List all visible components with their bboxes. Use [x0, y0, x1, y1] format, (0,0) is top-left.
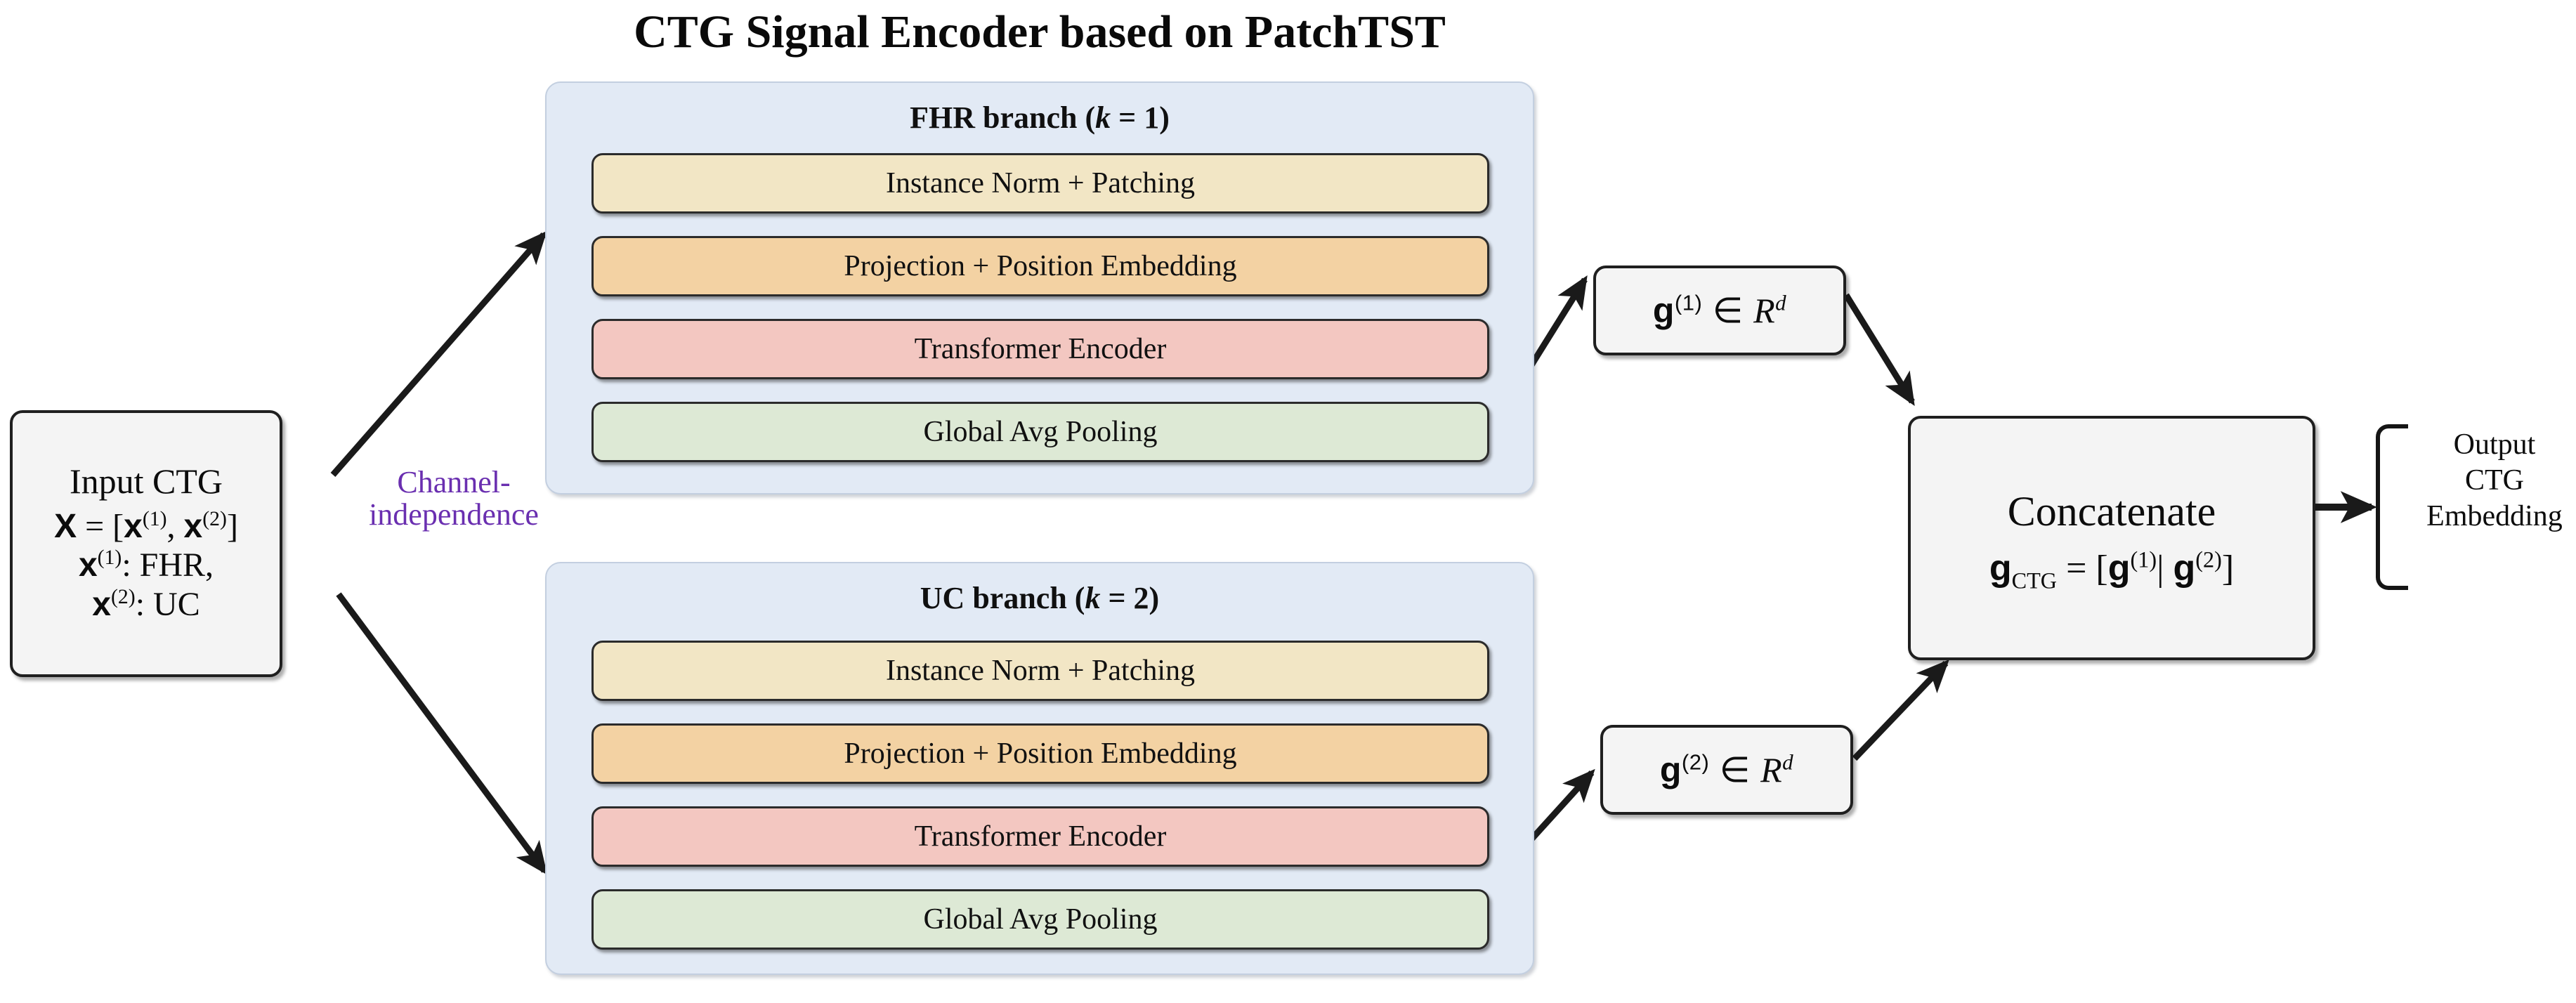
uc-layer-3-label: Transformer Encoder: [915, 820, 1167, 853]
page-title: CTG Signal Encoder based on PatchTST: [534, 6, 1545, 59]
arrow-g1-to-concat: [1846, 295, 1912, 402]
fhr-branch-container[interactable]: FHR branch (k = 1) Instance Norm + Patch…: [545, 81, 1534, 494]
fhr-layer-projection-position-embedding[interactable]: Projection + Position Embedding: [591, 236, 1489, 296]
fhr-layer-1-label: Instance Norm + Patching: [886, 166, 1195, 200]
uc-layer-projection-position-embedding[interactable]: Projection + Position Embedding: [591, 723, 1489, 784]
fhr-layer-2-label: Projection + Position Embedding: [844, 249, 1236, 283]
arrow-input-to-fhr: [333, 235, 544, 475]
embedding-g2-formula: g(2) ∈ Rd: [1660, 749, 1793, 790]
channel-independence-line2: independence: [327, 499, 580, 531]
diagram-canvas: CTG Signal Encoder based on PatchTST Inp…: [0, 0, 2576, 1003]
channel-independence-line1: Channel-: [327, 466, 580, 499]
embedding-g2-node[interactable]: g(2) ∈ Rd: [1600, 725, 1853, 815]
channel-independence-label: Channel- independence: [327, 466, 580, 531]
uc-layer-global-avg-pooling[interactable]: Global Avg Pooling: [591, 889, 1489, 950]
arrow-g2-to-concat: [1855, 663, 1946, 759]
input-ctg-formula-x1: x(1): FHR,: [79, 546, 214, 585]
input-ctg-formula-x: X = [x(1), x(2)]: [54, 507, 238, 546]
fhr-layer-transformer-encoder[interactable]: Transformer Encoder: [591, 319, 1489, 379]
output-line-2: CTG: [2408, 463, 2576, 499]
output-ctg-embedding-label: Output CTG Embedding: [2408, 427, 2576, 535]
uc-layer-transformer-encoder[interactable]: Transformer Encoder: [591, 806, 1489, 867]
output-brace-icon: [2376, 424, 2408, 590]
fhr-layer-global-avg-pooling[interactable]: Global Avg Pooling: [591, 402, 1489, 462]
concatenate-formula: gCTG = [g(1)| g(2)]: [1989, 547, 2234, 589]
uc-layer-instance-norm-patching[interactable]: Instance Norm + Patching: [591, 641, 1489, 701]
input-ctg-title: Input CTG: [70, 463, 223, 500]
fhr-layer-3-label: Transformer Encoder: [915, 332, 1167, 366]
concatenate-node[interactable]: Concatenate gCTG = [g(1)| g(2)]: [1908, 416, 2315, 660]
uc-branch-container[interactable]: UC branch (k = 2) Instance Norm + Patchi…: [545, 562, 1534, 975]
fhr-layer-4-label: Global Avg Pooling: [924, 415, 1158, 449]
input-ctg-node[interactable]: Input CTG X = [x(1), x(2)] x(1): FHR, x(…: [10, 410, 282, 677]
uc-layer-2-label: Projection + Position Embedding: [844, 737, 1236, 771]
arrow-input-to-uc: [339, 594, 544, 871]
concatenate-title: Concatenate: [2008, 487, 2216, 536]
output-line-3: Embedding: [2408, 499, 2576, 535]
input-ctg-formula-x2: x(2): UC: [92, 585, 200, 624]
fhr-branch-title: FHR branch (k = 1): [547, 100, 1533, 136]
output-line-1: Output: [2408, 427, 2576, 463]
fhr-layer-instance-norm-patching[interactable]: Instance Norm + Patching: [591, 153, 1489, 214]
embedding-g1-formula: g(1) ∈ Rd: [1653, 290, 1786, 331]
embedding-g1-node[interactable]: g(1) ∈ Rd: [1593, 265, 1846, 355]
uc-layer-1-label: Instance Norm + Patching: [886, 654, 1195, 688]
uc-branch-title: UC branch (k = 2): [547, 580, 1533, 616]
uc-layer-4-label: Global Avg Pooling: [924, 903, 1158, 936]
